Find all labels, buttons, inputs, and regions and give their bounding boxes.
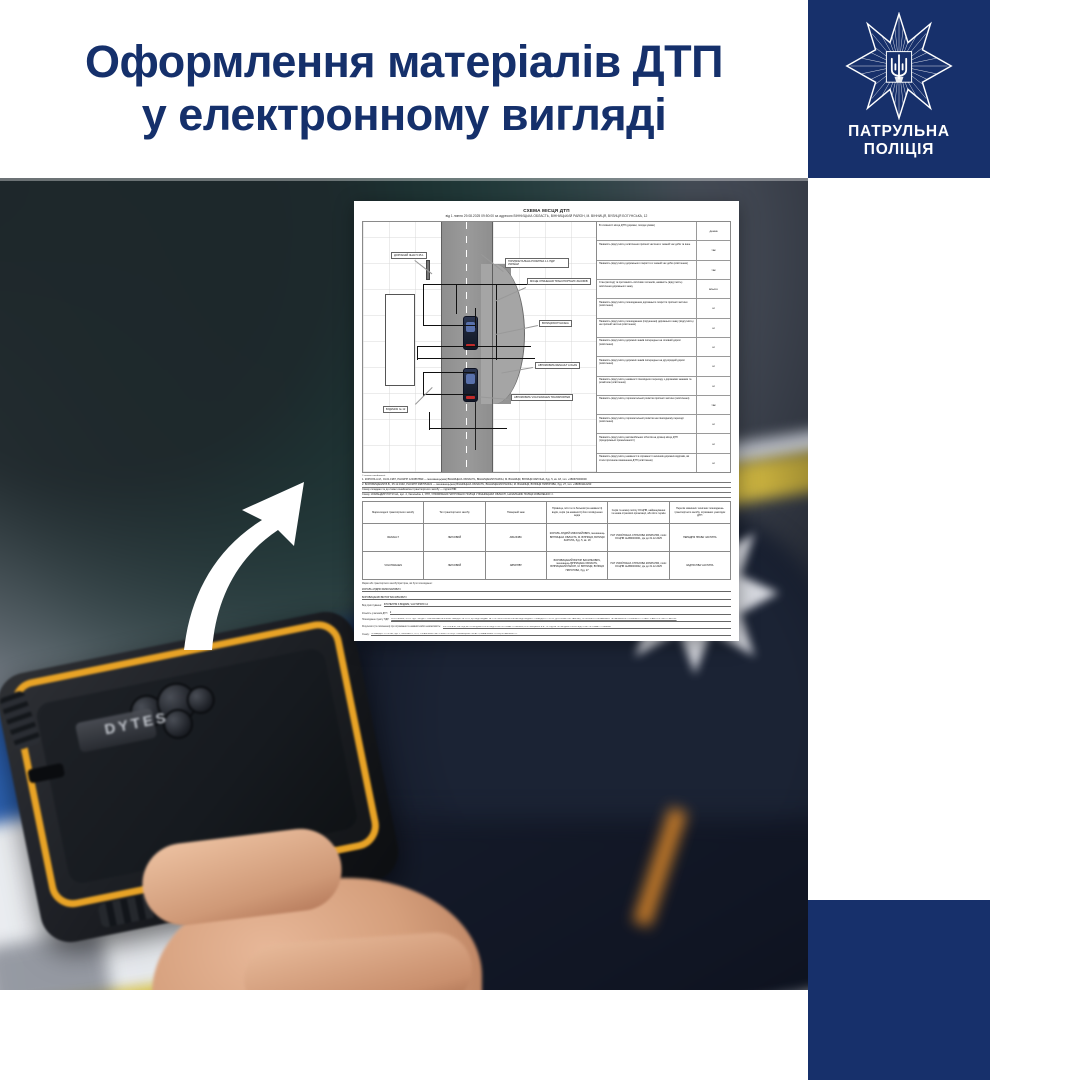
vehicle-details-table: Марка моделі транспортного засобу Тип тр… — [362, 501, 731, 580]
curved-arrow-up-right-icon — [178, 464, 368, 654]
table-row: Наявність (відсутність) автомобільних об… — [597, 434, 730, 453]
header: Оформлення матеріалів ДТП у електронному… — [0, 0, 1080, 178]
callout-leader-line — [415, 387, 432, 404]
cell-damage: ПЕРЕДНЯ ПРАВА ЧАСТИНА — [669, 523, 730, 551]
scheme-callout: ВУЛИЦЯ БОГУНСЬКА — [539, 320, 572, 327]
scheme-conditions-table: В готовності місця ДТП (дорожні, погодні… — [597, 222, 730, 472]
condition-question: В готовності місця ДТП (дорожні, погодні… — [597, 222, 696, 240]
table-row: Наявність (відсутність) наявності пішохі… — [597, 377, 730, 396]
document-fields: Марки або транспортного засобу/пристрою,… — [362, 583, 731, 636]
logo-text-line-2: ПОЛІЦІЯ — [848, 141, 950, 159]
field-row: Схему: КОМАНДИР РОТИ №1, вул. 2, батальй… — [362, 633, 731, 636]
table-row: Наявність (відсутність) пошкодження (пор… — [597, 319, 730, 338]
condition-question: Наявність (відсутність) горизонтальної р… — [597, 415, 696, 433]
column-header-type: Тип транспортного засобу — [424, 501, 485, 523]
condition-answer: ні — [696, 338, 730, 356]
scheme-callout: АВТОМОБІЛЬ VOLKSWAGEN TRANSPORTER — [511, 394, 573, 401]
patrol-police-star-emblem — [845, 12, 953, 120]
condition-answer: ні — [696, 377, 730, 395]
scheme-callout: ДОРОЖНІЙ ЗНАК 5.35.1 — [391, 252, 427, 259]
cell-policy: ПАТ УКРАЇНСЬКА СТРАХОВА КОМПАНІЯ, поліс … — [608, 551, 669, 579]
page-title: Оформлення матеріалів ДТП у електронному… — [0, 0, 808, 178]
column-header-make: Марка моделі транспортного засобу — [363, 501, 424, 523]
table-row: Наявність (відсутність) пошкодження доро… — [597, 299, 730, 318]
dimension-line — [423, 372, 475, 373]
condition-question: Наявність (відсутність) освітлення проїз… — [597, 241, 696, 259]
condition-answer: ні — [696, 299, 730, 317]
condition-answer: так — [696, 396, 730, 414]
condition-answer: ні — [696, 415, 730, 433]
condition-question: Наявність (відсутність) наявності в спра… — [597, 454, 696, 472]
vehicle-windshield — [466, 374, 475, 384]
dimension-line — [423, 394, 475, 395]
column-header-driver: Прізвище, ім'я та по батькові (за наявно… — [546, 501, 607, 523]
road-edge-right — [492, 222, 493, 472]
table-row: Наявність (відсутність) дорожніх знаків … — [597, 357, 730, 376]
condition-answer: денна — [696, 222, 730, 240]
trajectory-line — [475, 402, 476, 450]
dimension-tick — [496, 284, 497, 360]
field-label: Результати (та пояснення) про отримання … — [362, 626, 441, 629]
dimension-line — [423, 325, 475, 326]
field-label: Кількість учасників ДТП: — [362, 613, 388, 615]
cell-plate: АВ5678ВТ — [485, 551, 546, 579]
scheme-callout: БУДИНОК № 12 — [383, 406, 408, 413]
patrol-police-logo-block: ПАТРУЛЬНА ПОЛІЦІЯ — [808, 0, 990, 178]
document-subtitle-prefix: від 1 липня 29.08.2025 09:50:00 за адрес… — [446, 214, 513, 218]
note-line: Схему: КОМАНДИР РОТИ №1, вул. 2, батальй… — [362, 493, 731, 498]
vehicle-2-symbol — [463, 368, 478, 402]
cell-plate: АВ1234ВС — [485, 523, 546, 551]
dtp-scheme-document[interactable]: СХЕМА МІСЦЯ ДТП від 1 липня 29.08.2025 0… — [354, 201, 739, 641]
field-value: КОМАНДИР РОТИ №1, вул. 2, батальйон 1, У… — [371, 633, 731, 636]
page-title-line-1: Оформлення матеріалів ДТП — [85, 36, 723, 89]
building-outline — [385, 294, 415, 386]
field-row: Пошкоджене пункту ПДР: КОРОЛЬ А.М., п.12… — [362, 618, 731, 622]
field-value: ЗІТКНЕННЯ З ВОДІЄМ, ЧАСТИНОЮ 12 — [384, 603, 731, 607]
dimension-line — [417, 358, 535, 359]
cell-make: VOLKSWAGEN — [363, 551, 424, 579]
officer-hand — [112, 818, 532, 990]
field-row: Кількість учасників ДТП: 2 — [362, 611, 731, 615]
dimension-line — [423, 284, 533, 285]
logo-text-line-1: ПАТРУЛЬНА — [848, 123, 950, 141]
table-row: Наявність (відсутність) дорожніх знаків … — [597, 338, 730, 357]
field-value: БОРОВИЦЬКИЙ ВІКТОР ВАСИЛЬОВИЧ — [362, 596, 731, 600]
condition-question: Наявність (відсутність) пошкодження доро… — [597, 299, 696, 317]
cell-damage: ЗАДНЯ ЛІВА ЧАСТИНА — [669, 551, 730, 579]
condition-answer: так — [696, 241, 730, 259]
scheme-callout: ГОРИЗОНТАЛЬНА РОЗМІТКА 1.1 ПДР УКРАЇНИ — [505, 258, 569, 268]
dimension-tick — [475, 308, 476, 328]
vehicle-taillight — [466, 396, 475, 399]
field-row: Марки або транспортного засобу/пристрою,… — [362, 583, 731, 585]
document-subtitle-address: ВІННИЦЬКА ОБЛАСТЬ, ВІННИЦЬКИЙ РАЙОН, М. … — [514, 214, 648, 218]
field-label: Вид приготування: — [362, 605, 382, 607]
condition-question: Наявність (відсутність) дорожніх знаків … — [597, 357, 696, 375]
vehicle-windshield — [466, 322, 475, 332]
bottom-accent-block — [808, 900, 990, 1080]
field-row: КОРОЛЬ АНДРІЙ МИКОЛАЙОВИЧ — [362, 588, 731, 592]
page-title-line-2: у електронному вигляді — [142, 89, 666, 142]
dimension-line — [429, 428, 507, 429]
field-label: Схему: — [362, 634, 369, 636]
document-acknowledgement-notes: З схемою ознайомлені: 1. КОРОЛЬ А.М., 01… — [362, 475, 731, 498]
table-header-row: Марка моделі транспортного засобу Тип тр… — [363, 501, 731, 523]
dimension-tick — [423, 284, 424, 326]
dimension-line — [417, 346, 531, 347]
table-row: RENAULT ЛЕГКОВИЙ АВ1234ВС КОРОЛЬ АНДРІЙ … — [363, 523, 731, 551]
condition-question: Стан (вигляд) та протяжність світлових с… — [597, 280, 696, 298]
condition-question: Наявність (відсутність) наявності пішохі… — [597, 377, 696, 395]
field-value: КОРОЛЬ АНДРІЙ МИКОЛАЙОВИЧ — [362, 588, 731, 592]
table-row: В готовності місця ДТП (дорожні, погодні… — [597, 222, 730, 241]
cell-policy: ПАТ УКРАЇНСЬКА СТРАХОВА КОМПАНІЯ, поліс … — [608, 523, 669, 551]
document-main-area: ДОРОЖНІЙ ЗНАК 5.35.1 ГОРИЗОНТАЛЬНА РОЗМІ… — [362, 221, 731, 473]
condition-answer: так — [696, 261, 730, 279]
field-value: КОРОЛЬ А.М., п.12.1 ПДР - ВОДІЙ ТЗ НЕ ВИ… — [391, 618, 731, 622]
condition-answer: ні — [696, 434, 730, 452]
condition-answer: всього — [696, 280, 730, 298]
condition-question: Наявність (відсутність) автомобільних об… — [597, 434, 696, 452]
field-row: Вид приготування: ЗІТКНЕННЯ З ВОДІЄМ, ЧА… — [362, 603, 731, 607]
accident-scheme-drawing[interactable]: ДОРОЖНІЙ ЗНАК 5.35.1 ГОРИЗОНТАЛЬНА РОЗМІ… — [363, 222, 597, 472]
table-row: Наявність (відсутність) освітлення проїз… — [597, 241, 730, 260]
patrol-police-logo-text: ПАТРУЛЬНА ПОЛІЦІЯ — [848, 123, 950, 160]
condition-answer: ні — [696, 357, 730, 375]
dimension-tick — [456, 284, 457, 314]
condition-question: Наявність (відсутність) пошкодження (пор… — [597, 319, 696, 337]
table-row: Наявність (відсутність) горизонтальної р… — [597, 396, 730, 415]
cell-type: ЛЕГКОВИЙ — [424, 523, 485, 551]
field-row: Результати (та пояснення) про отримання … — [362, 626, 731, 630]
scheme-callout: МІСЦЕ ЗІТКНЕННЯ ТРАНСПОРТНИХ ЗАСОБІВ — [527, 278, 591, 285]
column-header-plate: Номерний знак — [485, 501, 546, 523]
condition-question: Наявність (відсутність) дорожніх знаків … — [597, 338, 696, 356]
condition-question: Наявність (відсутність) горизонтальної р… — [597, 396, 696, 414]
table-row: VOLKSWAGEN ЛЕГКОВИЙ АВ5678ВТ БОРОВИЦЬКИЙ… — [363, 551, 731, 579]
document-title: СХЕМА МІСЦЯ ДТП — [362, 208, 731, 213]
dimension-tick — [423, 372, 424, 396]
column-header-damage: Перелік зовнішніх технічних пошкоджень т… — [669, 501, 730, 523]
field-value: 2 — [390, 611, 731, 615]
field-row: БОРОВИЦЬКИЙ ВІКТОР ВАСИЛЬОВИЧ — [362, 596, 731, 600]
field-value: КОРОЛЬ А.М., НЕ ПИД НЕ ПРОВОДИВСЯ КРЕЗ В… — [443, 626, 731, 630]
scheme-callout: АВТОМОБІЛЬ RENAULT LOGAN — [535, 362, 580, 369]
table-row: Наявність (відсутність) наявності в спра… — [597, 454, 730, 472]
field-label: Марки або транспортного засобу/пристрою,… — [362, 583, 432, 585]
vehicle-1-symbol — [463, 316, 478, 350]
document-subtitle: від 1 липня 29.08.2025 09:50:00 за адрес… — [362, 214, 731, 218]
cell-driver: БОРОВИЦЬКИЙ ВІКТОР ВАСИЛЬОВИЧ, мешканець… — [546, 551, 607, 579]
table-row: Наявність (відсутність) дорожнього покри… — [597, 261, 730, 280]
dimension-tick — [429, 412, 430, 430]
dimension-tick — [417, 346, 418, 360]
cell-type: ЛЕГКОВИЙ — [424, 551, 485, 579]
photo-top-highlight — [0, 178, 808, 181]
cell-make: RENAULT — [363, 523, 424, 551]
cell-driver: КОРОЛЬ АНДРІЙ МИКОЛАЙОВИЧ, мешканець ВІН… — [546, 523, 607, 551]
roadway-curve-shoulder — [481, 264, 525, 404]
column-header-policy: Серія та номер полісу ОСЦПВ, найменуванн… — [608, 501, 669, 523]
condition-answer: ні — [696, 319, 730, 337]
condition-question: Наявність (відсутність) дорожнього покри… — [597, 261, 696, 279]
road-edge-left — [441, 222, 442, 472]
field-label: Пошкоджене пункту ПДР: — [362, 619, 389, 622]
condition-answer: ні — [696, 454, 730, 472]
table-row: Наявність (відсутність) горизонтальної р… — [597, 415, 730, 434]
table-row: Стан (вигляд) та протяжність світлових с… — [597, 280, 730, 299]
